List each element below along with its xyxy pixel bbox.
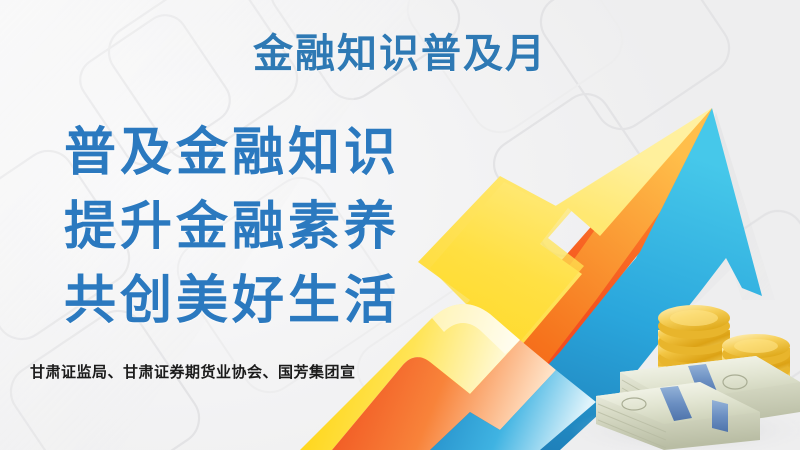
gold-coin-stack-left (658, 305, 730, 379)
cash-bundle-back (620, 356, 800, 432)
cash-bundle-front (596, 382, 760, 450)
headline-line-1: 普及金融知识 (64, 116, 464, 190)
page-title: 金融知识普及月 (0, 34, 800, 74)
headline-line-2: 提升金融素养 (64, 190, 464, 264)
headline-line-3: 共创美好生活 (64, 264, 464, 338)
gold-coin-stack-right (722, 334, 790, 390)
arrow-shadow (470, 112, 775, 450)
money-shadow (570, 404, 800, 450)
headline-block: 普及金融知识 提升金融素养 共创美好生活 (64, 116, 464, 338)
financial-literacy-poster: 金融知识普及月 普及金融知识 提升金融素养 共创美好生活 甘肃证监局、甘肃证券期… (0, 0, 800, 450)
sponsor-footer: 甘肃证监局、甘肃证券期货业协会、国芳集团宣 (30, 361, 356, 382)
